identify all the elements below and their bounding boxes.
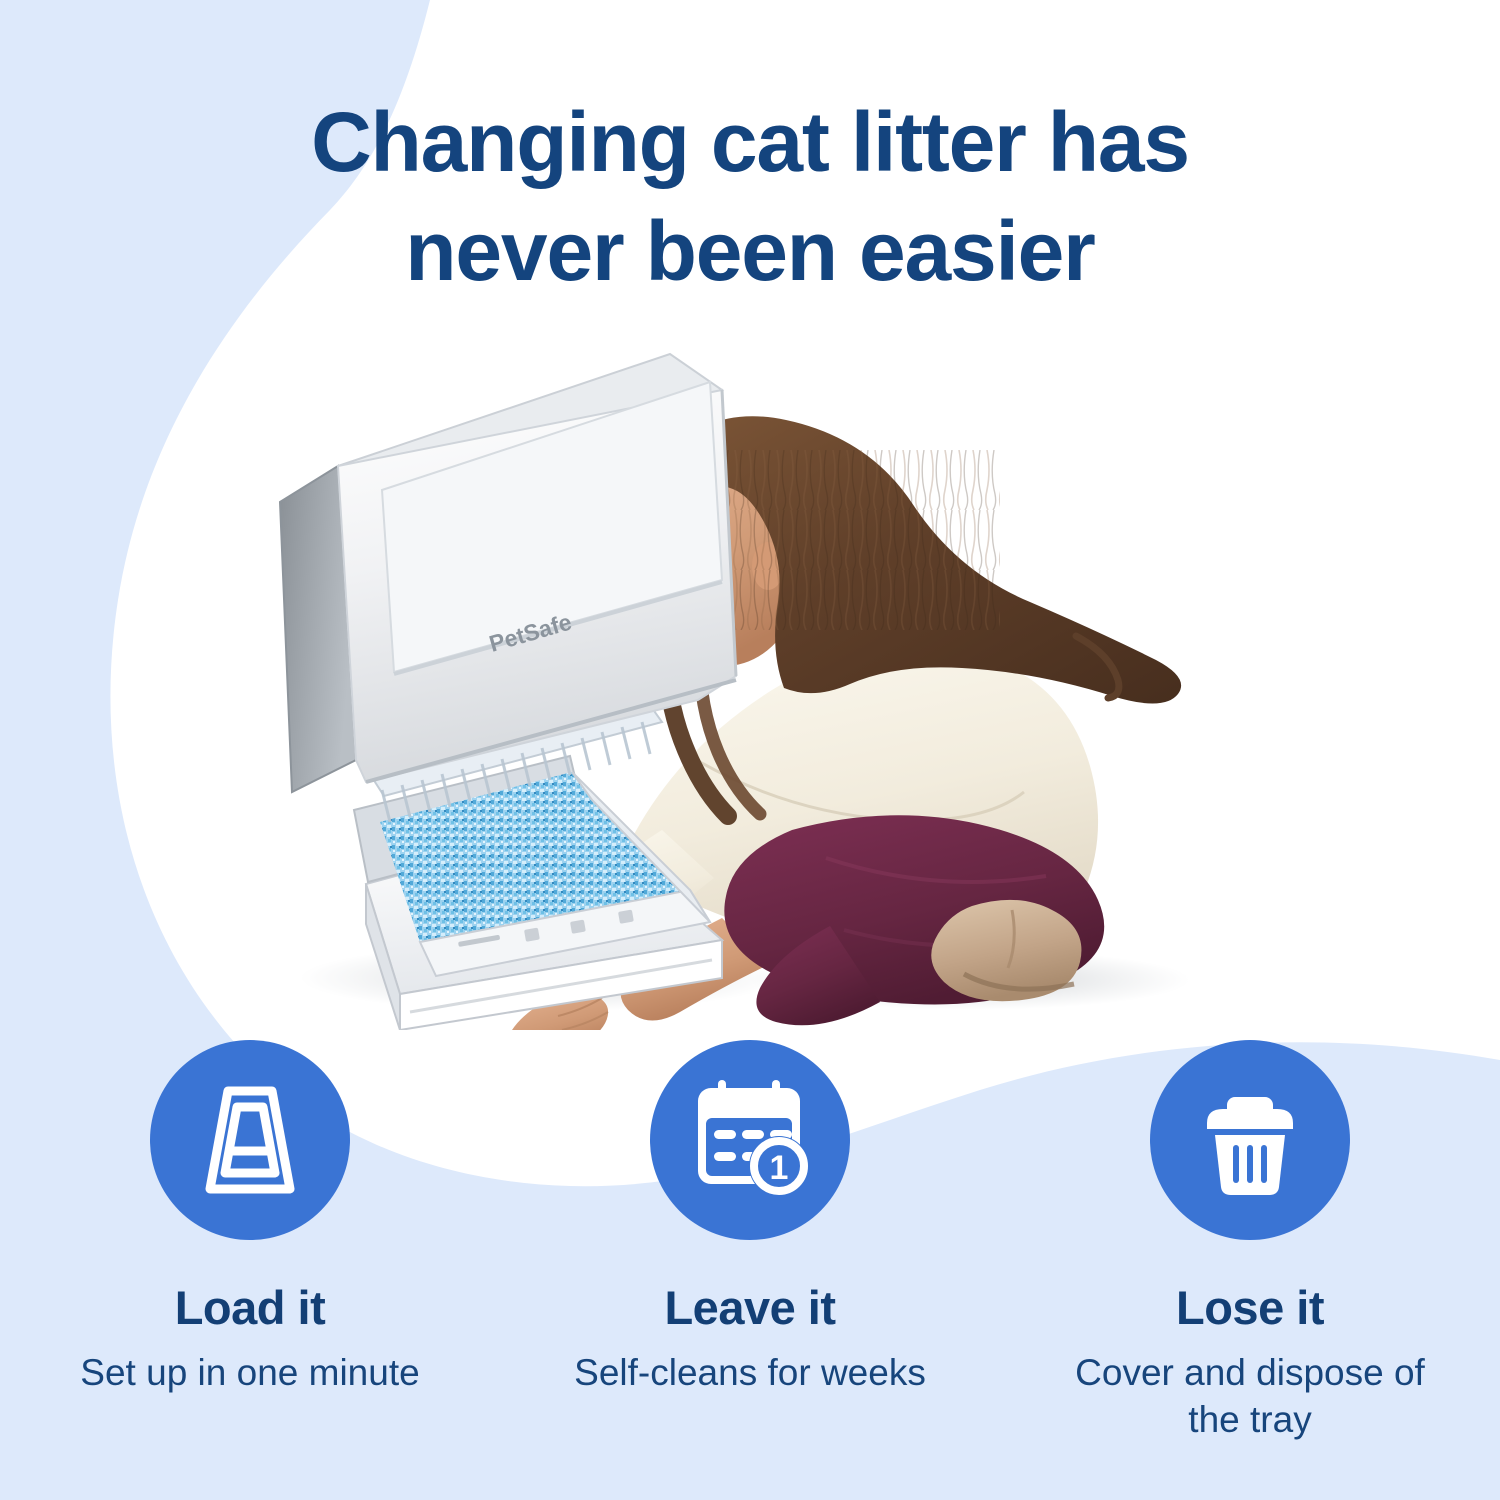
headline-line-1: Changing cat litter has bbox=[0, 88, 1500, 197]
feature-description: Cover and dispose of the tray bbox=[1050, 1349, 1450, 1444]
trash-icon-circle bbox=[1150, 1040, 1350, 1240]
feature-row: Load it Set up in one minute bbox=[0, 1040, 1500, 1470]
feature-description: Set up in one minute bbox=[80, 1349, 419, 1396]
trash-can-icon bbox=[1187, 1077, 1313, 1203]
poster-canvas: Changing cat litter has never been easie… bbox=[0, 0, 1500, 1500]
litter-box-hood: PetSafe bbox=[280, 354, 736, 792]
feature-title: Lose it bbox=[1176, 1284, 1324, 1331]
feature-title: Load it bbox=[175, 1284, 326, 1331]
feature-leave-it: 1 Leave it Self-cleans for weeks bbox=[500, 1040, 1000, 1470]
litter-tray-icon bbox=[187, 1077, 313, 1203]
feature-title: Leave it bbox=[664, 1284, 835, 1331]
calendar-badge-number: 1 bbox=[770, 1149, 789, 1187]
hair-texture bbox=[700, 450, 1000, 630]
hero-product-photo: PetSafe bbox=[270, 330, 1230, 1030]
litter-tray-icon-circle bbox=[150, 1040, 350, 1240]
headline-line-2: never been easier bbox=[0, 197, 1500, 306]
feature-lose-it: Lose it Cover and dispose of the tray bbox=[1000, 1040, 1500, 1470]
headline: Changing cat litter has never been easie… bbox=[0, 88, 1500, 306]
calendar-icon-circle: 1 bbox=[650, 1040, 850, 1240]
calendar-one-icon: 1 bbox=[684, 1074, 816, 1206]
feature-description: Self-cleans for weeks bbox=[574, 1349, 926, 1396]
feature-load-it: Load it Set up in one minute bbox=[0, 1040, 500, 1470]
